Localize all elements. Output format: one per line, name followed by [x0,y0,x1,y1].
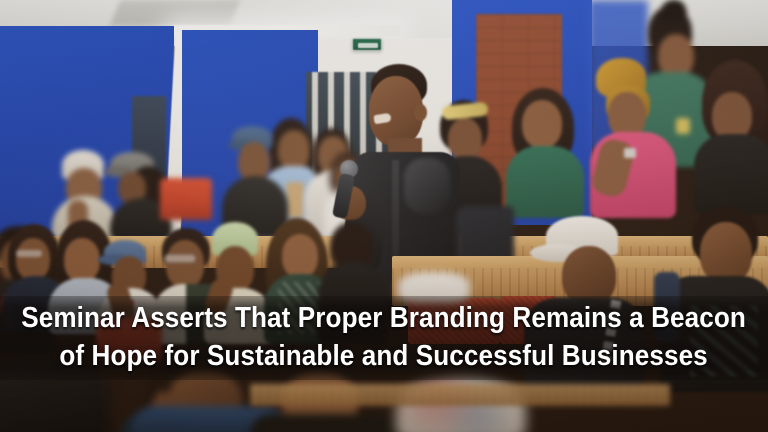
headline-overlay: Seminar Asserts That Proper Branding Rem… [0,296,768,380]
headline-line-2: of Hope for Sustainable and Successful B… [22,338,747,376]
seat [160,178,212,220]
headline-line-1: Seminar Asserts That Proper Branding Rem… [22,300,747,338]
exit-sign-icon [352,38,382,51]
desk-ledge [250,384,670,406]
page-title: Seminar Asserts That Proper Branding Rem… [22,300,747,375]
hero-image: Seminar Asserts That Proper Branding Rem… [0,0,768,432]
ceiling-vent [110,0,241,26]
